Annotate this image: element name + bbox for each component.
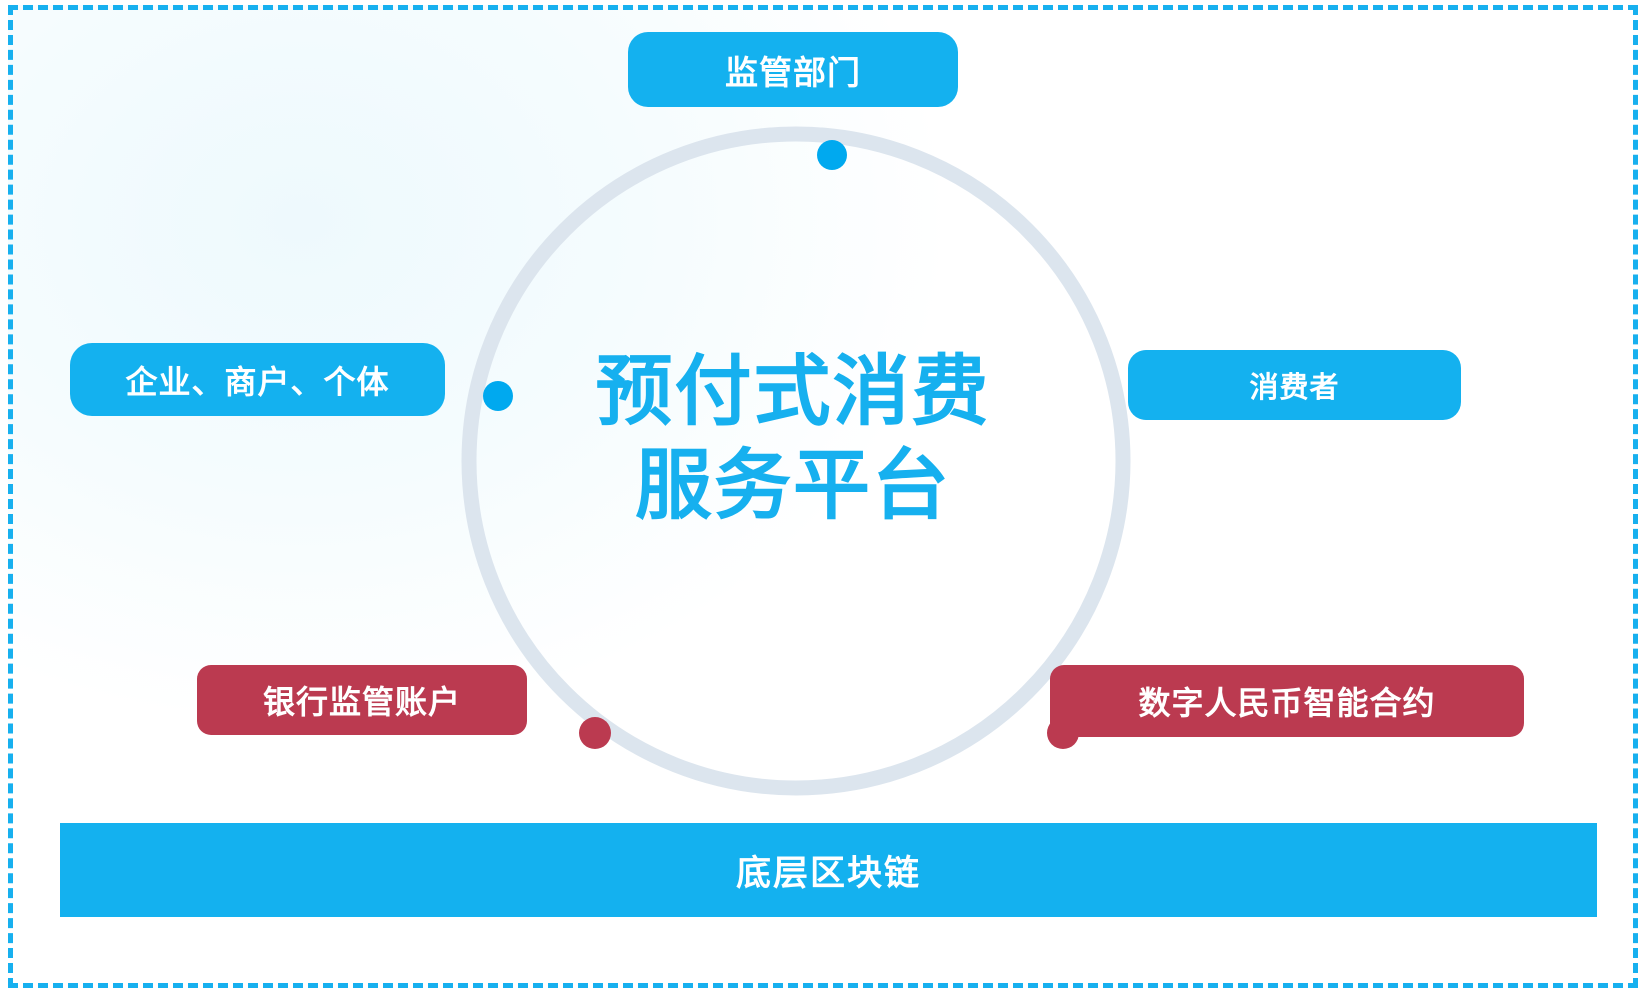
node-dot-bank [579, 717, 611, 749]
node-dot-merchants [483, 381, 513, 411]
center-title-line-2: 服务平台 [533, 440, 1053, 534]
center-title-line-1: 预付式消费 [533, 346, 1053, 440]
center-platform-title: 预付式消费 服务平台 [533, 346, 1053, 534]
diagram-canvas: 预付式消费 服务平台 监管部门 企业、商户、个体 消费者 银行监管账户 数字人民… [0, 0, 1646, 1000]
node-bank-account[interactable]: 银行监管账户 [197, 665, 527, 735]
node-digital-rmb-contract[interactable]: 数字人民币智能合约 [1050, 665, 1524, 737]
node-consumers[interactable]: 消费者 [1128, 350, 1461, 420]
node-regulator[interactable]: 监管部门 [628, 32, 958, 107]
foundation-blockchain-bar[interactable]: 底层区块链 [60, 823, 1597, 917]
node-merchants[interactable]: 企业、商户、个体 [70, 343, 445, 416]
node-dot-regulator [817, 140, 847, 170]
